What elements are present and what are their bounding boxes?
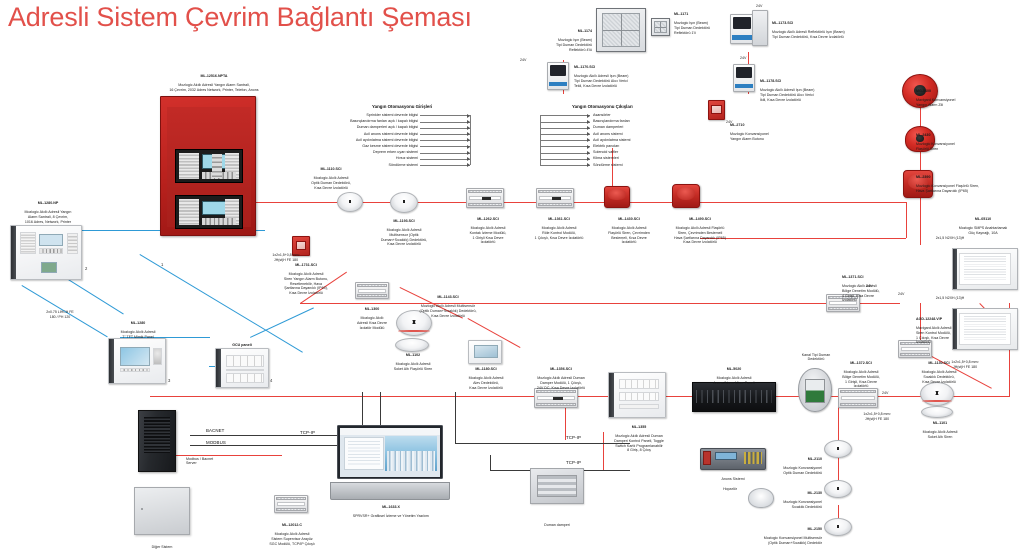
code-ml-12012: ML-12012.C [248, 523, 336, 528]
label-ml-2430: ML-2430 Mozlogic Konvansiyonel Flaşörlü … [916, 128, 1008, 152]
label-ml-1110: ML-1110.SCI Mozlogic Akıllı Adresli Opti… [285, 162, 377, 190]
device-gcu-panel[interactable] [215, 348, 269, 388]
label-ml-1101: ML-1101 Mozlogic Akıllı Adresli Soket Al… [906, 416, 974, 440]
label-ml-12012: ML-12012.C Mozlogic Akıllı Adresli Siste… [248, 518, 336, 546]
label-ml-2110: ML-2110 Mozlogic Konvansiyonel Optik Dum… [756, 452, 822, 476]
code-ml-1178: ML-1178.SCI [760, 79, 890, 84]
loop-wire-lower [150, 396, 1010, 397]
panel-function-keys[interactable] [212, 154, 222, 178]
input-leader-0 [420, 115, 470, 116]
output-leader-1 [540, 122, 590, 123]
text-hoparlor: Hoparlör [723, 487, 737, 491]
module-1356-switch[interactable] [553, 397, 563, 400]
desc-ml-1262: Mozlogic Akıllı Adresli Kontak İzleme Mo… [470, 226, 507, 244]
code-gcu: GCU paneli [216, 343, 268, 348]
output-item-6: Solenoid valfler [593, 150, 618, 154]
protocol-modbus: MODBUS [206, 440, 226, 445]
desc-ml-1280-mimic: Mozlogic Akıllı Adresli 7" TFT Mimik Pan… [121, 330, 156, 339]
code-ml-1300: ML-1300 [342, 307, 402, 312]
desc-ml-1430: Mozlogic Akıllı Adresli Flaşörlü Siren, … [608, 226, 650, 244]
code-ml-5020: ML-5020 [690, 367, 778, 372]
label-duman-damperi: Duman damperi [522, 518, 592, 527]
module-1361-terminals-top [538, 190, 572, 193]
device-mimic-panel[interactable] [108, 338, 166, 384]
code-ml-2150: ML-2150 [732, 527, 822, 532]
desc-ml-2110: Mozlogic Konvansiyonel Optik Duman Dedek… [783, 466, 822, 475]
desc-ml-1300: Mozlogic Akıllı Adresli Kısa Devre İzola… [357, 316, 387, 329]
gcu-divider [226, 369, 264, 371]
input-leader-7 [420, 159, 470, 160]
code-ml-1174: ML-1174 [498, 29, 592, 34]
output-item-3: Acil anons sistemi [593, 132, 623, 136]
output-item-0: Asansörler [593, 113, 611, 117]
desc-ml-1143: Mozlogic Akıllı Adresli Multisensör (Opt… [420, 304, 477, 317]
tcpip-wire-1v [455, 392, 456, 443]
module-1262-switch[interactable] [482, 197, 491, 200]
input-item-4: Acil aydınlatma sistemi devrede bilgisi [356, 138, 418, 142]
device-detector-1193[interactable] [390, 192, 418, 213]
code-ml-1731: ML-1731.SCI [270, 263, 342, 268]
protocol-tcpip-1: TCP-IP [566, 435, 581, 440]
input-item-0: Sprinkler sistemi devrede bilgisi [366, 113, 418, 117]
module-1372-terminals-top [840, 390, 876, 393]
device-server-tower[interactable] [138, 410, 176, 472]
output-leader-2 [540, 128, 590, 129]
label-ml-05110: ML-05110 Mozlogic SMPS Anahtarlamalı Güç… [944, 212, 1022, 236]
panel-1355-left-edge [609, 373, 614, 417]
code-ml-1355: ML-1355 [598, 425, 680, 430]
label-mimic-panel: ML-1280 Mozlogic Akıllı Adresli 7" TFT M… [104, 316, 172, 340]
reflector-grid-single-icon [654, 21, 668, 34]
label-ml-1178: ML-1178.SCI Mozlogic Akıllı Adresli Işın… [760, 74, 890, 102]
module-1262-terminals-top [468, 190, 502, 193]
gateway-label-area [277, 502, 305, 506]
psu-side-panel [953, 249, 957, 289]
gateway-terminals-top [276, 497, 306, 500]
laptop-ui-sidebar [344, 437, 384, 469]
output-item-4: Acil aydınlatma sistemi [593, 138, 631, 142]
agd-label-area [901, 347, 929, 351]
label-main-panel: ML-12516.NPTA Mozlogic Akıllı Adresli Ya… [132, 69, 296, 93]
code-ml-1110: ML-1110.SCI [285, 167, 377, 172]
tcpip-wire-2v [490, 455, 491, 470]
text-anons-sistemi: Anons Sistemi [721, 477, 744, 481]
panel-lower-module[interactable] [175, 195, 243, 229]
code-ml-1633: ML-1633.X [318, 505, 464, 510]
code-ml-1180: ML-1180.SCI [450, 367, 522, 372]
desc-ml-1173: Mozlogic Akıllı Adresli Reflektörlü Işın… [772, 30, 845, 39]
label-server: Modbus / Bacnet Server [186, 452, 248, 466]
mimic-left-edge [109, 339, 114, 383]
siren-1430-cone-icon [608, 189, 625, 199]
cable-label-lihch: 2x0.75 LIHCH FE 180 / PH 120 [30, 310, 90, 319]
voltage-tag-5: 24V [866, 284, 872, 288]
duct-detector-window-icon [805, 379, 824, 403]
label-ml-1355: ML-1355 Mozlogic Akıllı Adresli Duman Da… [598, 420, 680, 453]
input-leader-8 [420, 165, 470, 166]
beam-strip-1170-icon [549, 82, 567, 87]
label-hoparlor: Hoparlör [710, 482, 750, 491]
label-anons-sistemi: Anons Sistemi [702, 472, 764, 481]
device-module-1372[interactable] [838, 388, 878, 408]
code-ml-12516: ML-12516.NPTA [132, 74, 296, 79]
page-title: Adresli Sistem Çevrim Bağlantı Şeması [8, 2, 472, 33]
module-1356-terminals-bottom [536, 403, 576, 406]
panel-1280np-lcd [39, 234, 63, 246]
device-callpoint-2710[interactable] [708, 100, 725, 120]
label-ml-1173: ML-1173.SCI Mozlogic Akıllı Adresli Refl… [772, 16, 922, 40]
code-ml-1490: ML-1490.SCI [656, 217, 744, 222]
input-leader-4 [420, 140, 470, 141]
module-1300-label-area [358, 289, 386, 293]
protocol-bacnet: BACNET [206, 428, 224, 433]
outputs-bus-bar [540, 115, 541, 165]
detector-base-1193 [393, 206, 416, 212]
panel-1280np-right-keys[interactable] [67, 233, 78, 254]
device-flame-detector-1180[interactable] [468, 340, 502, 364]
input-leader-5 [420, 146, 470, 147]
desc-ml-1110: Mozlogic Akıllı Adresli Optik Duman Dede… [311, 176, 351, 189]
device-module-1356[interactable] [534, 388, 578, 408]
device-beam-reflector-1[interactable] [651, 18, 670, 36]
label-ml-2710: ML-2710 Mozlogic Konvansiyonel Yangın Al… [730, 118, 840, 142]
output-arrow-7 [587, 157, 590, 161]
psu-document-area [959, 253, 1010, 285]
detector-vent-2130-icon [830, 487, 847, 490]
voltage-tag-2: 24V [520, 58, 526, 62]
desc-ml-1490: Mozlogic Akıllı Adresli Flaşörlü Siren, … [674, 226, 726, 244]
device-module-1300[interactable] [355, 282, 389, 299]
code-agd-12248: AGD-12248.VIP [916, 317, 998, 322]
detector-vent-1143-icon [403, 320, 425, 324]
code-ml-1102: ML-1102 [378, 353, 448, 358]
input-item-3: Acil anons sistemi devrede bilgisi [364, 132, 418, 136]
cabinet-lock-icon [141, 508, 143, 510]
device-gateway-12012[interactable] [274, 495, 308, 513]
desc-ml-2710: Mozlogic Konvansiyonel Yangın Alarm Buto… [730, 132, 769, 141]
panel-face [167, 107, 251, 227]
label-ml-1170: ML-1170.SCI Mozlogic Akıllı Adresli Işın… [574, 60, 714, 88]
desc-ml-2150: Mozlogic Konvansiyonel Multisensör (Opti… [764, 536, 822, 545]
label-ml-2390: ML-2390 Mozlogic Konvansiyonel Flaşörlü … [916, 170, 1020, 194]
device-panel-1280np[interactable] [10, 225, 82, 280]
input-item-1: Basınçlandırma fanları açık / kapalı bil… [350, 119, 418, 123]
label-ml-1372: ML-1372.SCI Mozlogic Akıllı Adresli Bölg… [830, 356, 892, 389]
desc-ml-1361: Mozlogic Akıllı Adresli Röle Kontrol Mod… [535, 226, 584, 239]
cable-label-nzol-b: 2x1,5 N2XH (13)H [922, 296, 978, 301]
beam-strip-1178-icon [735, 84, 753, 89]
voltage-tag-3: 24V [740, 56, 746, 60]
input-item-7: Hırsız sistemi [396, 156, 418, 160]
label-mg-5400: MG-5400 Mavigard Konvansiyonel Yangın Al… [916, 84, 1012, 108]
code-ml-2710: ML-2710 [730, 123, 840, 128]
module-1300-terminals-top [357, 284, 387, 287]
detector-vent-2110-icon [830, 447, 847, 450]
desc-ml-12012: Mozlogic Akıllı Adresli Sistem Superviso… [269, 532, 314, 545]
device-detector-1130[interactable] [920, 382, 954, 406]
diagram-canvas: Adresli Sistem Çevrim Bağlantı Şeması [0, 0, 1024, 551]
loop-number-3: 3 [168, 378, 170, 383]
panel-1355-row-1 [619, 379, 659, 389]
device-mixer-5020[interactable] [692, 382, 776, 412]
loop-number-4: 4 [270, 378, 272, 383]
inputs-heading: Yangın Otomasyonu Girişleri [372, 104, 432, 109]
label-ml-1633: ML-1633.X SPRVSR+ Grafiksel İzleme ve Yö… [318, 500, 464, 519]
desc-ml-2430: Mozlogic Konvansiyonel Flaşörlü Siren [916, 142, 955, 151]
device-psu-05110[interactable] [952, 248, 1018, 290]
desc-ml-1356: Mozlogic Akıllı Adresli Duman Damper Mod… [537, 376, 585, 389]
detector-vent-1110-icon [342, 200, 357, 203]
label-ml-1193: ML-1193.SCI Mozlogic Akıllı Adresli Mult… [366, 214, 442, 247]
device-siren-1430[interactable] [604, 186, 630, 208]
device-panel-1355[interactable] [608, 372, 666, 418]
output-leader-3 [540, 134, 590, 135]
laptop-ui-site-graphic [385, 436, 437, 470]
module-1262-terminals-bottom [468, 203, 502, 206]
desc-ml-1280np: Mozlogic Akıllı Adresli Yangın Alarm San… [25, 210, 72, 223]
laptop-screen [337, 425, 443, 479]
panel-1280np-leds [20, 232, 36, 254]
device-main-fire-panel[interactable] [160, 96, 256, 236]
desc-ml-1731: Mozlogic Akıllı Adresli Siren Yangın Ala… [284, 272, 328, 295]
code-ml-1372: ML-1372.SCI [830, 361, 892, 366]
panel-display-module[interactable] [175, 149, 243, 183]
device-detector-2110[interactable] [824, 440, 852, 458]
device-beam-1170[interactable] [547, 62, 569, 90]
device-detector-1110[interactable] [337, 192, 363, 212]
output-arrow-5 [587, 145, 590, 149]
module-1361-switch[interactable] [552, 197, 561, 200]
callpoint-1731-window-icon [296, 241, 307, 250]
panel-lower-keypad[interactable] [202, 218, 236, 225]
label-other-system: Diğer Sistem [128, 540, 196, 549]
code-ml-1193: ML-1193.SCI [366, 219, 442, 224]
network-wire-7 [250, 307, 314, 337]
loop-number-2: 2 [85, 266, 87, 271]
module-1361-terminals-bottom [538, 203, 572, 206]
desc-ml-5020: Mozlogic Akıllı Adresli Anons/Alarm Mixe… [713, 376, 755, 385]
gcu-left-edge [216, 349, 221, 387]
desc-ml-1193: Mozlogic Akıllı Adresli Multisensor (Opt… [381, 228, 427, 246]
mixer-fader-bank[interactable] [696, 390, 771, 402]
label-ml-1361: ML-1361.SCI Mozlogic Akıllı Adresli Röle… [528, 212, 590, 240]
code-ml-2430: ML-2430 [916, 133, 1008, 138]
desc-ml-1101: Mozlogic Akıllı Adresli Soket Altı Siren [923, 430, 958, 439]
code-ml-1361: ML-1361.SCI [528, 217, 590, 222]
label-ml-5020: ML-5020 Mozlogic Akıllı Adresli Anons/Al… [690, 362, 778, 386]
desc-ml-1170: Mozlogic Akıllı Adresli Işın (Beam) Tipi… [574, 74, 628, 87]
voltage-tag-1: 24V [756, 4, 762, 8]
console-microphone-icon[interactable] [703, 451, 711, 465]
label-agd-12248: AGD-12248.VIP Mavigard Akıllı Adresli Si… [916, 312, 998, 345]
output-leader-6 [540, 153, 590, 154]
code-ml-1280np: ML-1280.NP [4, 201, 92, 206]
label-ml-1174: ML-1174 Mozlogic Işın (Beam) Tipi Duman … [498, 24, 592, 52]
output-arrow-8 [587, 163, 590, 167]
inputs-bus-bar [470, 115, 471, 165]
label-ml-1143: ML-1143.SCI Mozlogic Akıllı Adresli Mult… [398, 290, 498, 318]
cable-label-jh-c: 1x2x1,5+0,8 mm² JH(st)H FE 180 [936, 360, 994, 369]
label-ml-2130: ML-2130 Mozlogic Konvansiyonel Sıcaklık … [756, 486, 822, 510]
output-leader-5 [540, 146, 590, 147]
code-ml-1280-mimic: ML-1280 [104, 321, 172, 326]
desc-ml-1371: Mozlogic Akıllı Adresli Bölge Denetim Mo… [842, 284, 880, 302]
device-other-system-cabinet[interactable] [134, 487, 190, 535]
desc-ml-1633: SPRVSR+ Grafiksel İzleme ve Yönetim Yazı… [353, 514, 430, 518]
desc-ml-1130: Mozlogic Akıllı Adresli Sıcaklık Dedektö… [922, 370, 957, 383]
device-module-1361[interactable] [536, 188, 574, 208]
input-item-2: Duman damperleri açık / kapalı bilgisi [357, 125, 418, 129]
desc-ml-1174: Mozlogic Işın (Beam) Tipi Duman Dedektör… [556, 38, 592, 51]
device-smoke-damper[interactable] [530, 468, 584, 504]
protocol-tcpip-3: TCP-IP [300, 430, 315, 435]
desc-ml-12516: Mozlogic Akıllı Adresli Yangın Alarm San… [169, 83, 258, 92]
cable-label-nzol-a: 2x1,5 N2XH (13)H [922, 236, 978, 241]
desc-mg-5400: Mavigard Konvansiyonel Yangın Alarm Zili [916, 98, 955, 107]
desc-ml-1102: Mozlogic Akıllı Adresli Soket Altı Flaşö… [394, 362, 433, 371]
flame-detector-lens [474, 345, 498, 358]
code-ml-2110: ML-2110 [756, 457, 822, 462]
beam-lens-icon [733, 17, 752, 29]
desc-ml-05110: Mozlogic SMPS Anahtarlamalı Güç Kaynağı,… [959, 226, 1008, 235]
module-1371-terminals-bottom [828, 307, 858, 310]
output-leader-7 [540, 159, 590, 160]
module-1372-label-area [841, 396, 875, 400]
console-display [715, 452, 737, 460]
code-ml-1101: ML-1101 [906, 421, 974, 426]
output-arrow-0 [587, 114, 590, 118]
input-leader-3 [420, 134, 470, 135]
text-server: Modbus / Bacnet Server [186, 457, 213, 466]
outputs-heading: Yangın Otomasyonu Çıkışları [572, 104, 633, 109]
desc-ml-2390: Mozlogic Konvansiyonel Flaşörlü Siren, H… [916, 184, 979, 193]
siren-1490-cone-icon [677, 187, 696, 201]
device-module-1262[interactable] [466, 188, 504, 208]
loop-number-1: 1 [161, 262, 163, 267]
detector-base-2150 [827, 530, 850, 535]
device-beam-1173[interactable] [730, 14, 754, 44]
mimic-tft-screen [120, 347, 150, 366]
mimic-button-row[interactable] [120, 368, 150, 372]
device-detector-2130[interactable] [824, 480, 852, 498]
laptop-software-ui [340, 428, 441, 477]
code-ml-2390: ML-2390 [916, 175, 1020, 180]
device-beam-reflector-4[interactable] [596, 8, 646, 52]
input-leader-6 [420, 153, 470, 154]
output-item-7: Klima sistemleri [593, 156, 619, 160]
code-ml-1143: ML-1143.SCI [398, 295, 498, 300]
text-duman-damperi: Duman damperi [544, 523, 570, 527]
desc-ml-1180: Mozlogic Akıllı Adresli Alev Dedektörü, … [469, 376, 504, 389]
code-ml-1430: ML-1430.SCI [594, 217, 664, 222]
label-ml-1430: ML-1430.SCI Mozlogic Akıllı Adresli Flaş… [594, 212, 664, 245]
detector-base-2110 [827, 452, 850, 457]
input-item-6: Deprem erken uyarı sistemi [373, 150, 418, 154]
label-ml-1180: ML-1180.SCI Mozlogic Akıllı Adresli Alev… [450, 362, 522, 390]
panel-1355-row-3 [619, 404, 659, 409]
code-ml-1371: ML-1371.SCI [842, 275, 912, 280]
device-laptop[interactable] [330, 425, 450, 500]
panel-left-edge [11, 226, 16, 279]
label-ml-1371: ML-1371.SCI Mozlogic Akıllı Adresli Bölg… [842, 270, 912, 303]
detector-vent-2150-icon [830, 525, 847, 528]
mimic-nav-pad[interactable] [153, 348, 162, 365]
device-siren-1490[interactable] [672, 184, 700, 208]
input-item-5: Gaz kesme sistemi devrede bilgisi [362, 144, 418, 148]
output-arrow-4 [587, 138, 590, 142]
panel-1280np-printer [41, 262, 57, 273]
input-leader-1 [420, 122, 470, 123]
detector-vent-1130-icon [927, 391, 948, 395]
device-beam-1178[interactable] [733, 64, 755, 92]
reflector-grid-icon [602, 13, 640, 47]
laptop-keyboard-base[interactable] [330, 482, 450, 500]
output-arrow-6 [587, 151, 590, 155]
label-gcu-panel: GCU paneli [216, 338, 268, 352]
detector-base-1130 [923, 398, 951, 405]
label-ml-1300: ML-1300 Mozlogic Akıllı Adresli Kısa Dev… [342, 302, 402, 330]
gcu-row-2 [226, 373, 264, 383]
desc-ml-2130: Mozlogic Konvansiyonel Sıcaklık Dedektör… [783, 500, 822, 509]
panel-1355-row-2 [619, 392, 659, 401]
output-item-8: Söndürme sistemi [593, 163, 623, 167]
server-vent-grill-icon [144, 417, 170, 453]
label-ml-1490: ML-1490.SCI Mozlogic Akıllı Adresli Flaş… [656, 212, 744, 245]
code-ml-1170: ML-1170.SCI [574, 65, 714, 70]
device-detector-2150[interactable] [824, 518, 852, 536]
desc-ml-1178: Mozlogic Akıllı Adresli Işın (Beam) Tipi… [760, 88, 814, 101]
desc-ml-1171: Mozlogic Işın (Beam) Tipi Duman Dedektör… [674, 21, 710, 34]
output-leader-4 [540, 140, 590, 141]
device-beam-1173-body [752, 10, 768, 46]
code-ml-2130: ML-2130 [756, 491, 822, 496]
beam-lens-1170-icon [550, 65, 567, 76]
label-panel-1280np: ML-1280.NP Mozlogic Akıllı Adresli Yangı… [4, 196, 92, 224]
output-arrow-1 [587, 120, 590, 124]
device-duct-detector[interactable] [798, 368, 832, 412]
desc-ml-1355: Mozlogic Akıllı Adresli Duman Damperi Ko… [614, 434, 664, 452]
label-ml-1356: ML-1356.SCI Mozlogic Akıllı Adresli Duma… [520, 362, 602, 390]
voltage-tag-6: 24V [882, 391, 888, 395]
beam-strip-icon [732, 35, 751, 40]
loop-wire-right-down [906, 202, 907, 238]
input-item-8: Söndürme sistemi [388, 163, 418, 167]
label-ml-1262: ML-1262.SCI Mozlogic Akıllı Adresli Kont… [458, 212, 518, 245]
detector-base-2130 [827, 492, 850, 497]
gateway-terminals-bottom [276, 508, 306, 511]
desc-agd-12248: Mavigard Akıllı Adresli Siren Kontrol Mo… [916, 326, 951, 344]
module-1372-terminals-bottom [840, 403, 876, 406]
code-ml-1173: ML-1173.SCI [772, 21, 922, 26]
panel-led-column-left [179, 153, 199, 179]
label-ml-2150: ML-2150 Mozlogic Konvansiyonel Multisens… [732, 522, 822, 546]
text-other-system: Diğer Sistem [152, 545, 173, 549]
detector-vent-1193-icon [396, 200, 413, 203]
code-ml-1262: ML-1262.SCI [458, 217, 518, 222]
code-ml-1356: ML-1356.SCI [520, 367, 602, 372]
output-item-5: Elektrik panoları [593, 144, 619, 148]
code-mg-5400: MG-5400 [916, 89, 1012, 94]
code-ml-05110: ML-05110 [944, 217, 1022, 222]
gcu-row-1 [226, 355, 264, 367]
label-ml-1102: ML-1102 Mozlogic Akıllı Adresli Soket Al… [378, 348, 448, 372]
output-item-1: Basınçlandırma fanları [593, 119, 630, 123]
module-1356-terminals-top [536, 390, 576, 393]
desc-ml-1372: Mozlogic Akıllı Adresli Bölge Denetim Mo… [842, 370, 880, 388]
panel-1280np-keys[interactable] [39, 248, 63, 254]
output-leader-8 [540, 165, 590, 166]
callpoint-window-icon [711, 105, 721, 114]
